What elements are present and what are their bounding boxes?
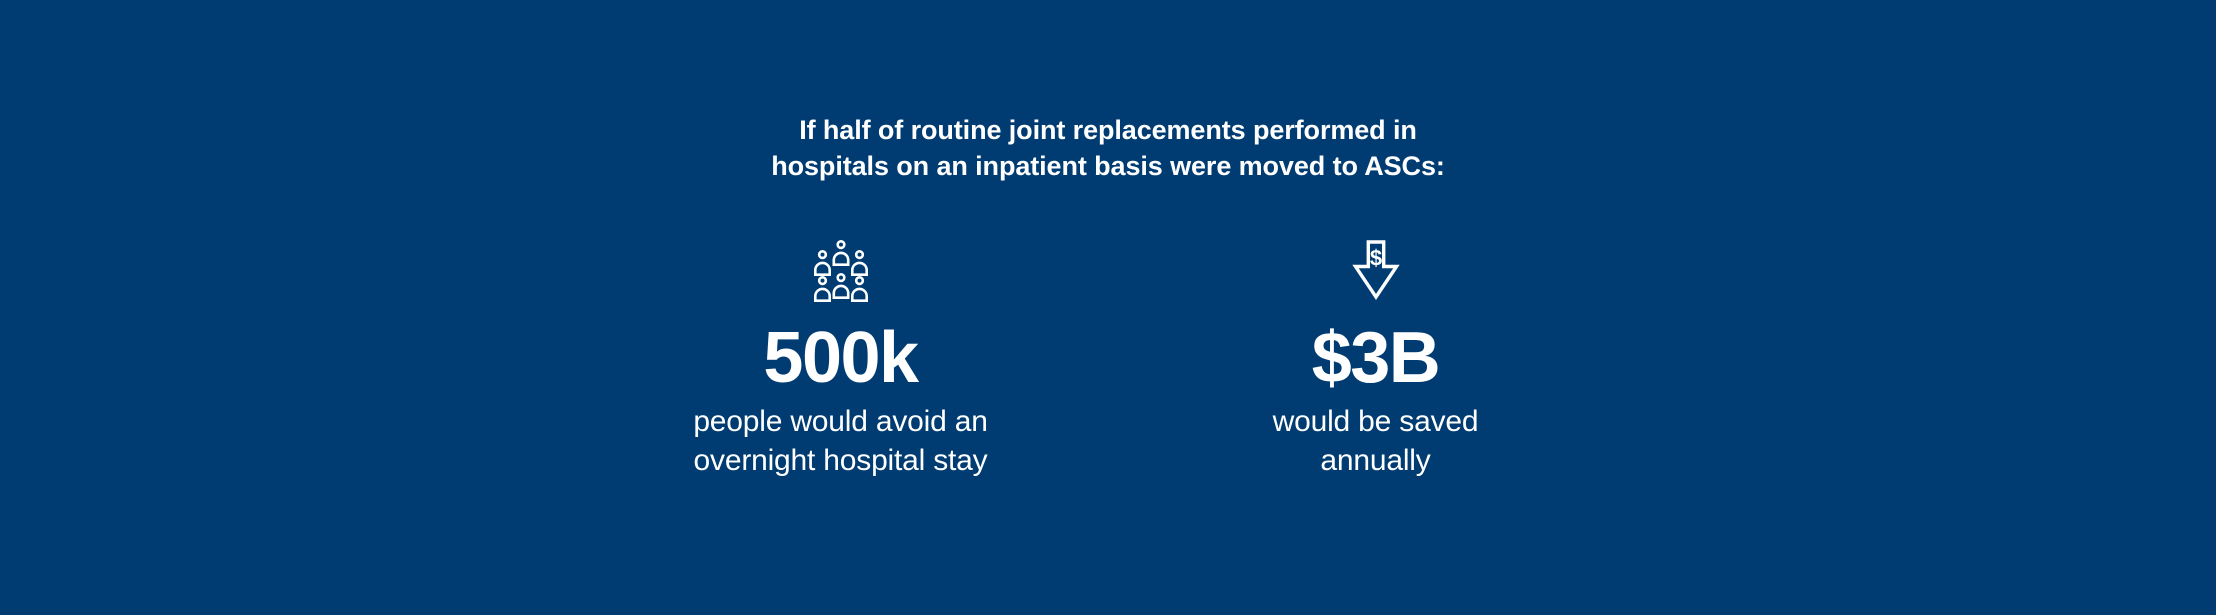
stat-caption-people-line-1: people would avoid an [693, 402, 987, 441]
dollar-down-arrow-icon: $ [1351, 240, 1401, 302]
stat-caption-savings: would be saved annually [1273, 402, 1479, 480]
svg-text:$: $ [1369, 246, 1381, 271]
headline: If half of routine joint replacements pe… [0, 112, 2216, 184]
stat-value-people: 500k [763, 322, 917, 394]
headline-line-1: If half of routine joint replacements pe… [0, 112, 2216, 148]
stat-value-savings: $3B [1312, 322, 1440, 394]
stat-caption-people: people would avoid an overnight hospital… [693, 402, 987, 480]
stats-row: 500k people would avoid an overnight hos… [0, 240, 2216, 480]
infographic-canvas: If half of routine joint replacements pe… [0, 0, 2216, 615]
stat-caption-savings-line-1: would be saved [1273, 402, 1479, 441]
headline-line-2: hospitals on an inpatient basis were mov… [0, 148, 2216, 184]
stat-block-savings: $ $3B would be saved annually [1186, 240, 1566, 480]
stat-block-people: 500k people would avoid an overnight hos… [651, 240, 1031, 480]
stat-caption-people-line-2: overnight hospital stay [693, 441, 987, 480]
group-of-people-icon [813, 240, 869, 302]
stat-caption-savings-line-2: annually [1273, 441, 1479, 480]
